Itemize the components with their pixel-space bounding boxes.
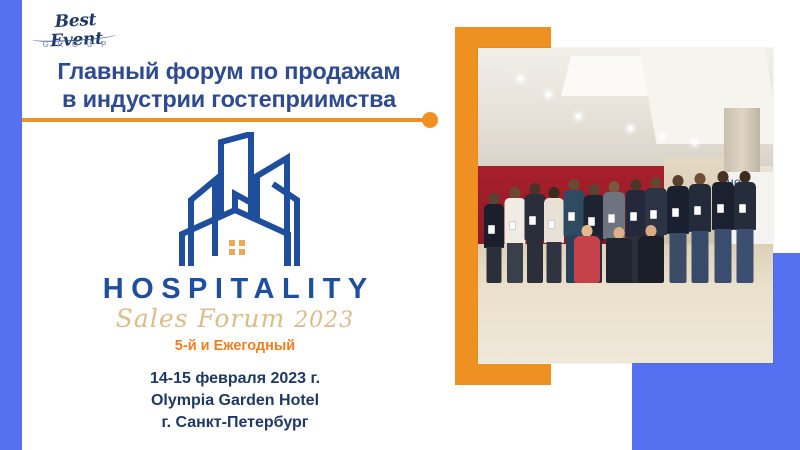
photo-attendee-group: [478, 168, 773, 283]
photo-ceiling-light: [576, 114, 581, 119]
event-venue: Olympia Garden Hotel: [60, 390, 410, 412]
hospitality-forum-logo: HOSPITALITY Sales Forum2023 5-й и Ежегод…: [60, 132, 410, 355]
hospitality-buildings-icon: [147, 132, 323, 272]
photo-attendee: [734, 171, 756, 283]
photo-attendee: [667, 175, 689, 283]
photo-attendee: [484, 191, 504, 283]
photo-attendee-front: [606, 227, 632, 283]
headline-line-1: Главный форум по продажам: [24, 57, 434, 85]
photo-attendee: [544, 185, 564, 283]
logo-tagline: 5-й и Ежегодный: [60, 337, 410, 355]
photo-ceiling-light: [692, 140, 697, 145]
photo-attendee: [524, 183, 545, 283]
photo-attendee-front: [638, 225, 664, 283]
logo-year: 2023: [294, 308, 354, 333]
headline-line-2: в индустрии гостеприимства: [24, 85, 434, 113]
photo-ceiling-light: [660, 134, 665, 139]
photo-attendee-front: [574, 225, 600, 283]
brand-logo: Best Event G R O U P: [28, 12, 124, 54]
photo-ceiling-light: [546, 92, 551, 97]
left-accent-bar: [0, 0, 22, 450]
event-poster: Best Event G R O U P Главный форум по пр…: [0, 0, 800, 450]
photo-attendee: [689, 173, 711, 283]
logo-wordmark: HOSPITALITY: [60, 273, 410, 305]
photo-attendee: [712, 171, 734, 283]
event-city: г. Санкт-Петербург: [60, 412, 410, 434]
photo-ceiling-light: [518, 76, 523, 81]
photo-attendee: [504, 187, 525, 283]
event-details: 14-15 февраля 2023 г. Olympia Garden Hot…: [60, 368, 410, 434]
page-title: Главный форум по продажам в индустрии го…: [24, 57, 434, 113]
logo-script-text: Sales Forum: [116, 304, 285, 333]
photo-ceiling-light: [628, 126, 633, 131]
logo-script-line: Sales Forum2023: [60, 304, 410, 336]
brand-subtitle: G R O U P: [28, 40, 124, 49]
photo-scene: HOS: [478, 48, 773, 363]
divider-dot: [422, 112, 438, 128]
divider-rule: [22, 118, 430, 122]
event-photo: HOS: [478, 48, 773, 363]
event-date: 14-15 февраля 2023 г.: [60, 368, 410, 390]
